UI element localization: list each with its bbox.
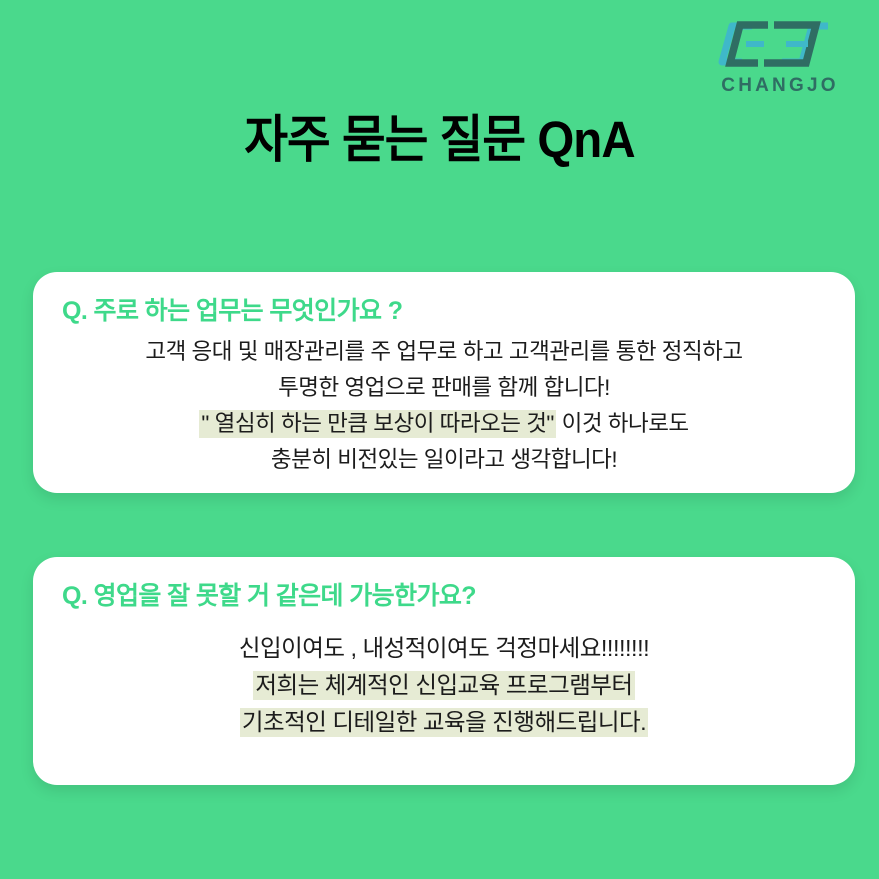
answer-line: 신입이여도 , 내성적이여도 걱정마세요!!!!!!!! (33, 630, 855, 667)
page-title: 자주 묻는 질문 QnA (31, 112, 848, 168)
faq-card-1: Q. 주로 하는 업무는 무엇인가요 ? 고객 응대 및 매장관리를 주 업무로… (33, 272, 855, 493)
faq-answer-2: 신입이여도 , 내성적이여도 걱정마세요!!!!!!!!저희는 체계적인 신입교… (33, 630, 855, 741)
answer-line: 충분히 비전있는 일이라고 생각합니다! (33, 442, 855, 478)
plain-text: 이것 하나로도 (556, 411, 689, 436)
answer-line: 저희는 체계적인 신입교육 프로그램부터 (33, 667, 855, 704)
faq-question-2: Q. 영업을 잘 못할 거 같은데 가능한가요? (62, 576, 476, 612)
faq-poster: CHANGJO 자주 묻는 질문 QnA Q. 주로 하는 업무는 무엇인가요 … (0, 0, 879, 879)
plain-text: 투명한 영업으로 판매를 함께 합니다! (278, 375, 610, 400)
brand-wordmark: CHANGJO (721, 76, 838, 95)
answer-line: 기초적인 디테일한 교육을 진행해드립니다. (33, 704, 855, 741)
answer-line: " 열심히 하는 만큼 보상이 따라오는 것" 이것 하나로도 (33, 406, 855, 442)
brand-logo: CHANGJO (705, 14, 855, 106)
highlighted-text: 기초적인 디테일한 교육을 진행해드립니다. (240, 708, 648, 737)
faq-question-1: Q. 주로 하는 업무는 무엇인가요 ? (62, 291, 402, 327)
plain-text: 충분히 비전있는 일이라고 생각합니다! (271, 447, 617, 472)
faq-card-2: Q. 영업을 잘 못할 거 같은데 가능한가요? 신입이여도 , 내성적이여도 … (33, 557, 855, 785)
highlighted-text: " 열심히 하는 만큼 보상이 따라오는 것" (199, 410, 555, 438)
plain-text: 신입이여도 , 내성적이여도 걱정마세요!!!!!!!! (239, 635, 649, 661)
faq-answer-1: 고객 응대 및 매장관리를 주 업무로 하고 고객관리를 통한 정직하고투명한 … (33, 334, 855, 478)
plain-text: 고객 응대 및 매장관리를 주 업무로 하고 고객관리를 통한 정직하고 (145, 339, 742, 364)
answer-line: 고객 응대 및 매장관리를 주 업무로 하고 고객관리를 통한 정직하고 (33, 334, 855, 370)
answer-line: 투명한 영업으로 판매를 함께 합니다! (33, 370, 855, 406)
changjo-cj-monogram-icon (716, 14, 844, 74)
highlighted-text: 저희는 체계적인 신입교육 프로그램부터 (253, 671, 634, 700)
